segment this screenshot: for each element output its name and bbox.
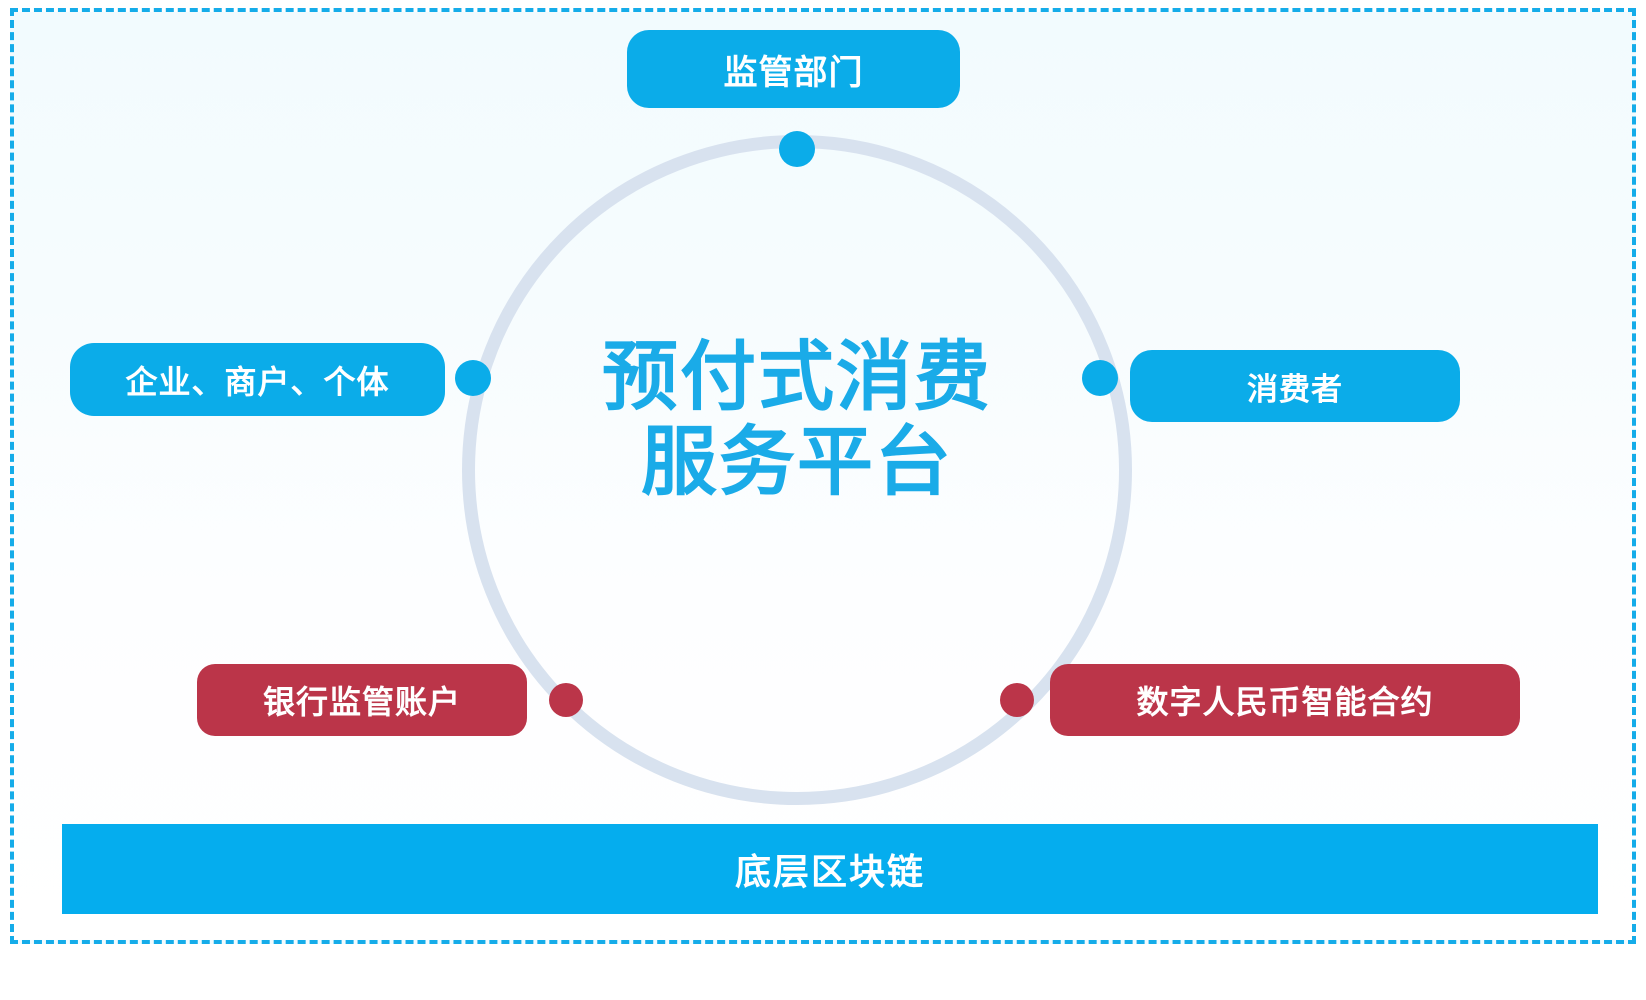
node-dot-smart-contract: [1000, 683, 1034, 717]
center-title-line-1: 预付式消费: [527, 335, 1067, 420]
node-label-regulator[interactable]: 监管部门: [627, 30, 960, 108]
node-label-smart-contract[interactable]: 数字人民币智能合约: [1050, 664, 1520, 736]
center-title-line-2: 服务平台: [527, 420, 1067, 505]
node-dot-bank-account: [549, 683, 583, 717]
node-label-enterprise[interactable]: 企业、商户、个体: [70, 343, 445, 416]
node-dot-enterprise: [455, 360, 491, 396]
diagram-canvas: 监管部门 企业、商户、个体 消费者 银行监管账户 数字人民币智能合约 预付式消费…: [0, 0, 1646, 1000]
center-title: 预付式消费 服务平台: [527, 335, 1067, 505]
node-label-consumer[interactable]: 消费者: [1130, 350, 1460, 422]
node-label-bank-account[interactable]: 银行监管账户: [197, 664, 527, 736]
node-dot-consumer: [1082, 360, 1118, 396]
node-dot-regulator: [779, 131, 815, 167]
foundation-bar-blockchain[interactable]: 底层区块链: [62, 824, 1598, 914]
